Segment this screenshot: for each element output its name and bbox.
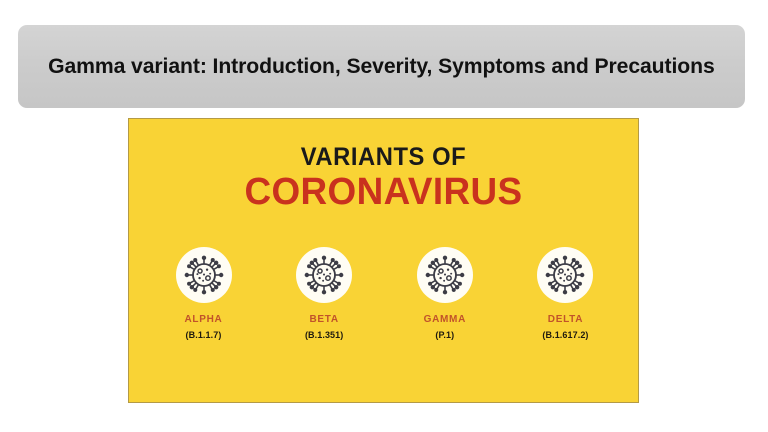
variant-item-alpha: ALPHA (B.1.1.7) [151, 247, 256, 340]
variant-item-beta: BETA (B.1.351) [272, 247, 377, 340]
infographic-headline: VARIANTS OF CORONAVIRUS [129, 145, 638, 213]
variant-name: ALPHA [185, 314, 223, 325]
variant-code: (B.1.1.7) [186, 330, 222, 340]
title-banner: Gamma variant: Introduction, Severity, S… [18, 25, 745, 108]
variants-row: ALPHA (B.1.1.7) [151, 247, 618, 340]
variant-item-delta: DELTA (B.1.617.2) [513, 247, 618, 340]
variant-code: (B.1.351) [305, 330, 343, 340]
coronavirus-icon [417, 247, 473, 303]
page-title: Gamma variant: Introduction, Severity, S… [48, 54, 715, 79]
variant-name: BETA [310, 314, 339, 325]
coronavirus-icon [537, 247, 593, 303]
headline-main-line: CORONAVIRUS [137, 173, 631, 213]
variant-code: (B.1.617.2) [542, 330, 588, 340]
variant-name: GAMMA [424, 314, 466, 325]
variant-code: (P.1) [435, 330, 454, 340]
coronavirus-variants-infographic: VARIANTS OF CORONAVIRUS [128, 118, 639, 403]
coronavirus-icon [296, 247, 352, 303]
headline-top-line: VARIANTS OF [142, 145, 626, 170]
coronavirus-icon [176, 247, 232, 303]
variant-name: DELTA [548, 314, 583, 325]
variant-item-gamma: GAMMA (P.1) [392, 247, 497, 340]
